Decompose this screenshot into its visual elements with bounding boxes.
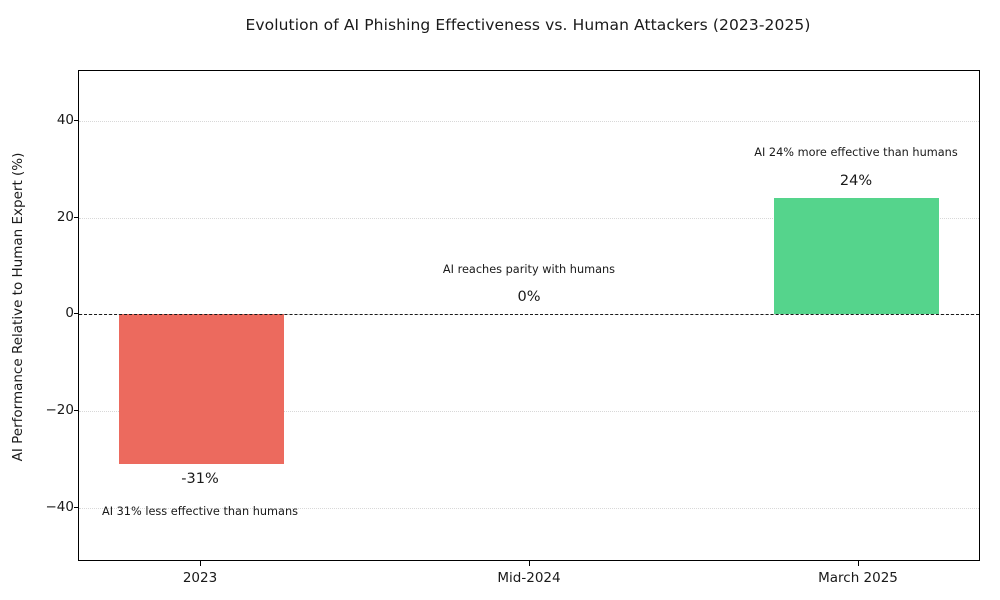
x-tick-mark-mid-2024 xyxy=(529,561,530,566)
chart-title: Evolution of AI Phishing Effectiveness v… xyxy=(0,16,1000,34)
plot-area xyxy=(78,70,980,561)
value-label-march-2025: 24% xyxy=(726,173,986,189)
y-tick-label-neg20: −20 xyxy=(20,402,74,418)
y-tick-mark-40 xyxy=(74,120,79,121)
gridline-40 xyxy=(79,121,979,122)
zero-reference-line xyxy=(79,314,979,315)
chart-figure: Evolution of AI Phishing Effectiveness v… xyxy=(0,0,1000,600)
bar-march-2025[interactable] xyxy=(774,198,939,314)
x-tick-label-mid-2024: Mid-2024 xyxy=(419,570,639,586)
annotation-mid-2024: AI reaches parity with humans xyxy=(369,263,689,276)
value-label-mid-2024: 0% xyxy=(399,289,659,305)
x-tick-mark-2023 xyxy=(200,561,201,566)
bar-2023[interactable] xyxy=(119,314,284,464)
x-tick-label-2023: 2023 xyxy=(90,570,310,586)
annotation-march-2025: AI 24% more effective than humans xyxy=(696,146,1000,159)
y-tick-label-20: 20 xyxy=(20,209,74,225)
y-tick-label-0: 0 xyxy=(20,305,74,321)
y-tick-mark-neg20 xyxy=(74,410,79,411)
value-label-2023: -31% xyxy=(70,471,330,487)
y-tick-label-40: 40 xyxy=(20,112,74,128)
annotation-2023: AI 31% less effective than humans xyxy=(40,505,360,518)
x-tick-mark-march-2025 xyxy=(858,561,859,566)
x-tick-label-march-2025: March 2025 xyxy=(748,570,968,586)
y-tick-mark-20 xyxy=(74,217,79,218)
x-axis: 2023 Mid-2024 March 2025 xyxy=(78,561,980,597)
y-axis-label: AI Performance Relative to Human Expert … xyxy=(10,57,26,557)
